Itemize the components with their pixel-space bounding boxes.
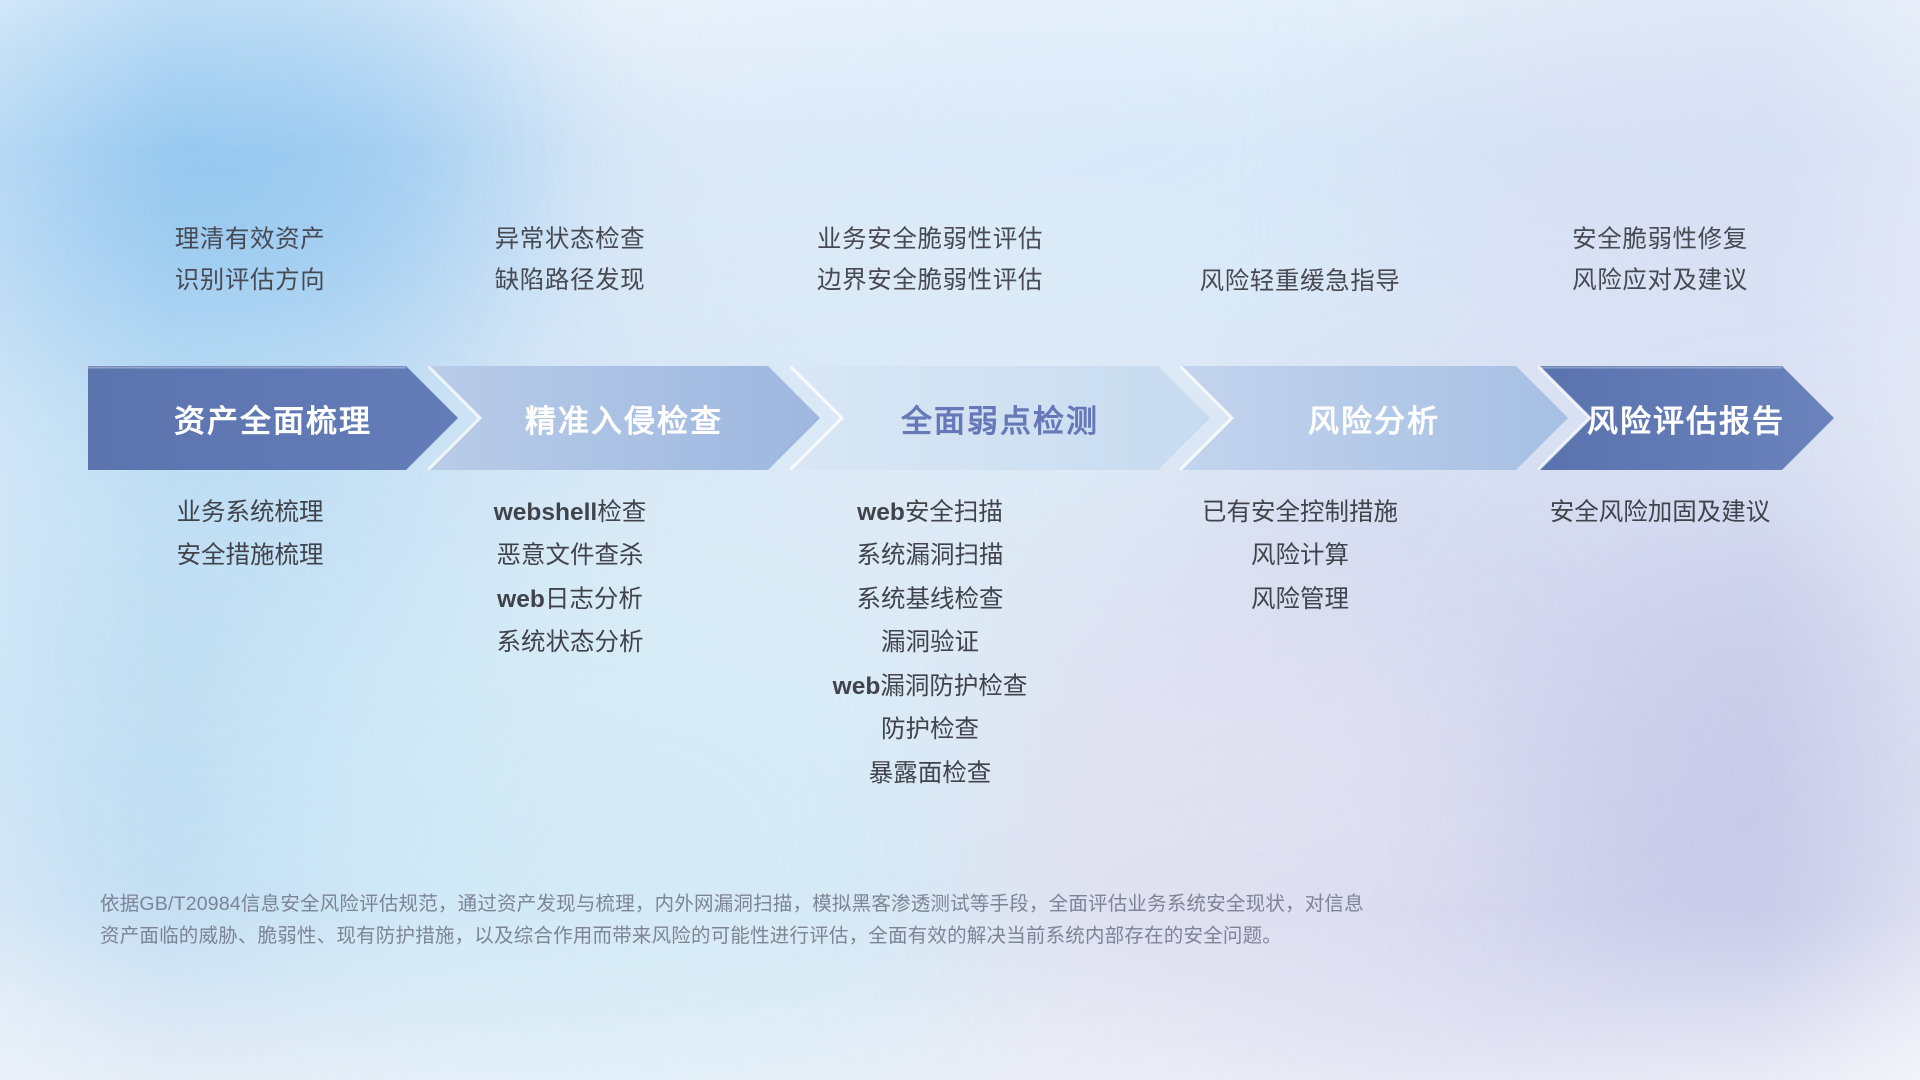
bottom-items-col-1: 业务系统梳理 安全措施梳理 (100, 500, 400, 788)
stage-label: 风险评估报告 (1587, 396, 1785, 441)
list-item: 防护检查 (881, 717, 979, 744)
list-item: 风险管理 (1251, 587, 1349, 614)
list-item: web漏洞防护检查 (833, 674, 1028, 701)
list-item-label: 检查 (597, 499, 646, 526)
list-item: 已有安全控制措施 (1202, 500, 1398, 527)
list-item: 系统状态分析 (497, 630, 644, 657)
caption: 识别评估方向 (175, 269, 326, 294)
list-item: 安全措施梳理 (177, 543, 324, 570)
list-item-label: 漏洞防护检查 (880, 673, 1027, 700)
list-item-prefix: webshell (494, 499, 597, 526)
list-item-prefix: web (857, 499, 905, 526)
stage-chevron-1[interactable]: 资产全面梳理 (88, 366, 458, 470)
process-diagram: 理清有效资产 识别评估方向 异常状态检查 缺陷路径发现 业务安全脆弱性评估 边界… (0, 0, 1920, 1080)
footnote-paragraph: 依据GB/T20984信息安全风险评估规范，通过资产发现与梳理，内外网漏洞扫描，… (100, 888, 1480, 952)
list-item-prefix: web (833, 673, 881, 700)
caption: 缺陷路径发现 (495, 269, 646, 294)
top-captions-row: 理清有效资产 识别评估方向 异常状态检查 缺陷路径发现 业务安全脆弱性评估 边界… (100, 228, 1840, 338)
list-item: 业务系统梳理 (177, 500, 324, 527)
list-item: 风险计算 (1251, 543, 1349, 570)
caption: 安全脆弱性修复 (1572, 228, 1748, 253)
list-item: web日志分析 (497, 587, 643, 614)
footnote-line-1: 依据GB/T20984信息安全风险评估规范，通过资产发现与梳理，内外网漏洞扫描，… (100, 888, 1480, 920)
stage-label: 全面弱点检测 (901, 396, 1099, 441)
stage-chevron-3[interactable]: 全面弱点检测 (790, 366, 1210, 470)
list-item: 漏洞验证 (881, 630, 979, 657)
bottom-items-col-5: 安全风险加固及建议 (1480, 500, 1840, 788)
list-item: 安全风险加固及建议 (1550, 500, 1771, 527)
top-captions-col-1: 理清有效资产 识别评估方向 (100, 228, 400, 338)
stage-chevron-2[interactable]: 精准入侵检查 (428, 366, 820, 470)
caption: 理清有效资产 (175, 228, 326, 253)
top-captions-col-5: 安全脆弱性修复 风险应对及建议 (1480, 228, 1840, 338)
bottom-items-col-2: webshell检查 恶意文件查杀 web日志分析 系统状态分析 (400, 500, 740, 788)
list-item: 系统漏洞扫描 (857, 543, 1004, 570)
bottom-items-row: 业务系统梳理 安全措施梳理 webshell检查 恶意文件查杀 web日志分析 … (100, 500, 1840, 788)
caption: 异常状态检查 (495, 228, 646, 253)
stage-chevron-banner: 资产全面梳理 精准入侵检查 (88, 366, 1834, 470)
stage-label: 资产全面梳理 (174, 396, 372, 441)
top-captions-col-4: 风险轻重缓急指导 (1120, 228, 1480, 338)
list-item-label: 日志分析 (545, 586, 643, 613)
caption: 边界安全脆弱性评估 (817, 269, 1043, 294)
bottom-items-col-4: 已有安全控制措施 风险计算 风险管理 (1120, 500, 1480, 788)
list-item: webshell检查 (494, 500, 646, 527)
bottom-items-col-3: web安全扫描 系统漏洞扫描 系统基线检查 漏洞验证 web漏洞防护检查 防护检… (740, 500, 1120, 788)
stage-chevron-4[interactable]: 风险分析 (1180, 366, 1568, 470)
list-item-prefix: web (497, 586, 545, 613)
stage-label: 精准入侵检查 (525, 396, 723, 441)
caption: 业务安全脆弱性评估 (817, 228, 1043, 253)
caption: 风险应对及建议 (1572, 269, 1748, 294)
footnote-line-2: 资产面临的威胁、脆弱性、现有防护措施，以及综合作用而带来风险的可能性进行评估，全… (100, 920, 1480, 952)
stage-label: 风险分析 (1308, 396, 1440, 441)
caption: 风险轻重缓急指导 (1200, 270, 1401, 295)
list-item-label: 安全扫描 (905, 499, 1003, 526)
list-item: web安全扫描 (857, 500, 1003, 527)
stage-chevron-5[interactable]: 风险评估报告 (1538, 366, 1834, 470)
list-item: 系统基线检查 (857, 587, 1004, 614)
top-captions-col-3: 业务安全脆弱性评估 边界安全脆弱性评估 (740, 228, 1120, 338)
list-item: 暴露面检查 (869, 761, 992, 788)
list-item: 恶意文件查杀 (497, 543, 644, 570)
top-captions-col-2: 异常状态检查 缺陷路径发现 (400, 228, 740, 338)
